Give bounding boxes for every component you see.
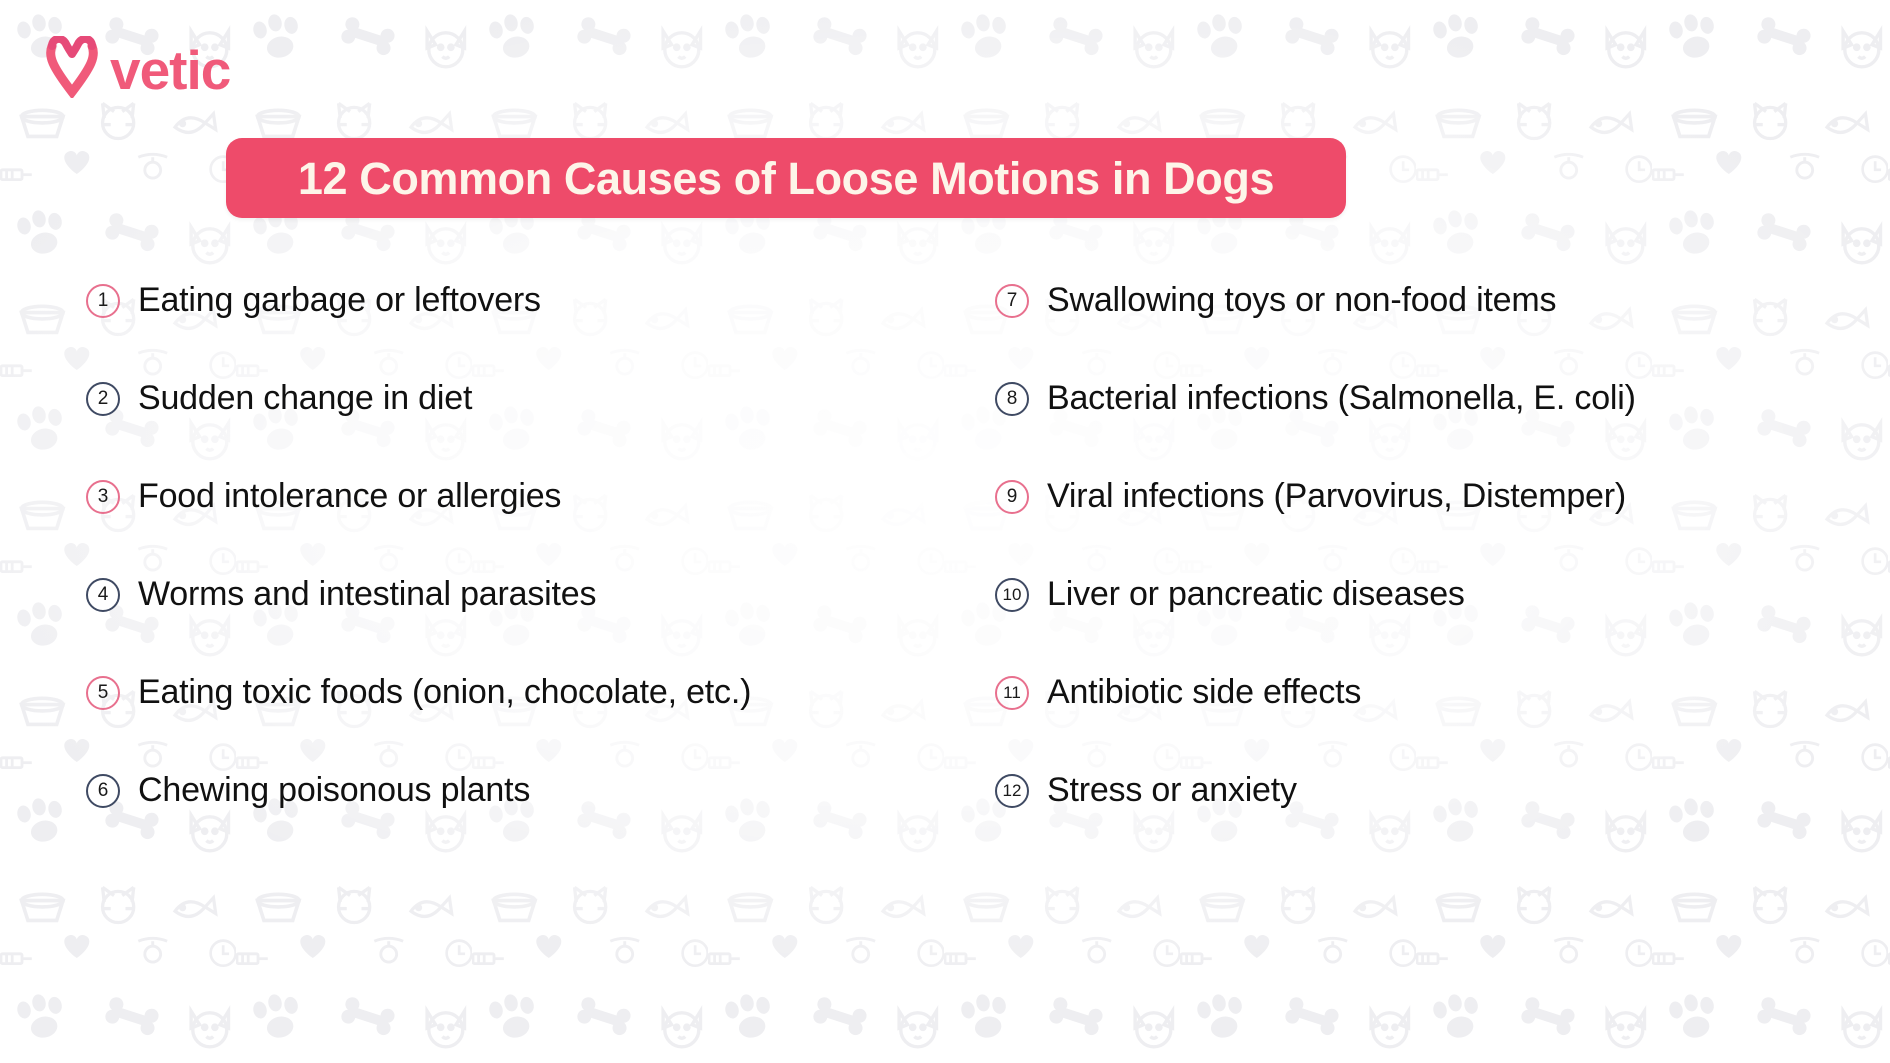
- list-item-number-badge: 6: [86, 774, 120, 808]
- list-item: 11 Antibiotic side effects: [995, 644, 1855, 742]
- list-item-number-badge: 4: [86, 578, 120, 612]
- infographic-page: vetic 12 Common Causes of Loose Motions …: [0, 0, 1890, 1063]
- list-item: 7 Swallowing toys or non-food items: [995, 252, 1855, 350]
- page-title: 12 Common Causes of Loose Motions in Dog…: [298, 156, 1274, 201]
- list-item: 8 Bacterial infections (Salmonella, E. c…: [995, 350, 1855, 448]
- list-item-label: Food intolerance or allergies: [138, 478, 561, 515]
- list-item: 10 Liver or pancreatic diseases: [995, 546, 1855, 644]
- list-item-number-badge: 10: [995, 578, 1029, 612]
- list-item-label: Swallowing toys or non-food items: [1047, 282, 1556, 319]
- list-item-number-badge: 11: [995, 676, 1029, 710]
- list-item-number-badge: 1: [86, 284, 120, 318]
- causes-list-right-column: 7 Swallowing toys or non-food items 8 Ba…: [995, 252, 1855, 840]
- title-banner: 12 Common Causes of Loose Motions in Dog…: [226, 138, 1346, 218]
- list-item-label: Eating garbage or leftovers: [138, 282, 541, 319]
- vetic-heart-v-icon: [46, 36, 100, 98]
- list-item-label: Liver or pancreatic diseases: [1047, 576, 1465, 613]
- list-item-label: Chewing poisonous plants: [138, 772, 530, 809]
- list-item-number-badge: 9: [995, 480, 1029, 514]
- list-item-label: Eating toxic foods (onion, chocolate, et…: [138, 674, 751, 711]
- list-item: 3 Food intolerance or allergies: [86, 448, 866, 546]
- list-item-label: Stress or anxiety: [1047, 772, 1297, 809]
- list-item-number-badge: 5: [86, 676, 120, 710]
- list-item: 6 Chewing poisonous plants: [86, 742, 866, 840]
- list-item: 12 Stress or anxiety: [995, 742, 1855, 840]
- list-item-label: Viral infections (Parvovirus, Distemper): [1047, 478, 1626, 515]
- list-item-number-badge: 2: [86, 382, 120, 416]
- causes-list-left-column: 1 Eating garbage or leftovers 2 Sudden c…: [86, 252, 866, 840]
- list-item-number-badge: 8: [995, 382, 1029, 416]
- list-item-number-badge: 7: [995, 284, 1029, 318]
- list-item-number-badge: 3: [86, 480, 120, 514]
- list-item-label: Worms and intestinal parasites: [138, 576, 596, 613]
- list-item: 5 Eating toxic foods (onion, chocolate, …: [86, 644, 866, 742]
- brand-logo: vetic: [46, 36, 230, 98]
- list-item-label: Sudden change in diet: [138, 380, 472, 417]
- list-item: 2 Sudden change in diet: [86, 350, 866, 448]
- list-item-label: Antibiotic side effects: [1047, 674, 1361, 711]
- list-item-label: Bacterial infections (Salmonella, E. col…: [1047, 380, 1636, 417]
- brand-wordmark: vetic: [110, 43, 230, 98]
- list-item: 9 Viral infections (Parvovirus, Distempe…: [995, 448, 1855, 546]
- list-item: 4 Worms and intestinal parasites: [86, 546, 866, 644]
- list-item-number-badge: 12: [995, 774, 1029, 808]
- list-item: 1 Eating garbage or leftovers: [86, 252, 866, 350]
